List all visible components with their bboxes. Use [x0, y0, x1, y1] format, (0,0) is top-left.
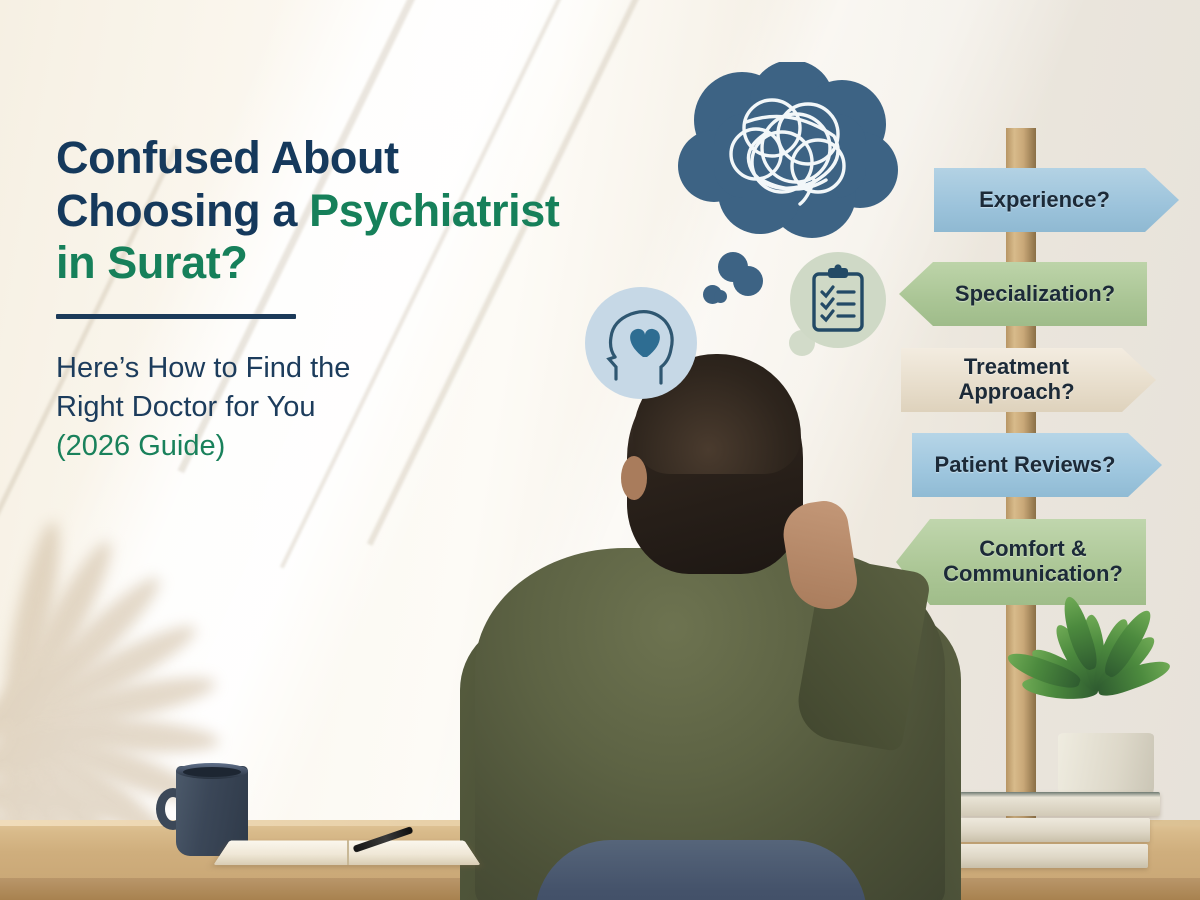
subheading-line-1: Here’s How to Find the: [56, 352, 350, 384]
headline-line-1: Confused About: [56, 132, 399, 183]
subheading: Here’s How to Find the Right Doctor for …: [56, 349, 676, 466]
signpost-label: Experience?: [934, 188, 1179, 213]
signpost-sign-specialization[interactable]: Specialization?: [899, 262, 1147, 326]
thought-bubble-dot: [714, 290, 727, 303]
hero-banner: Experience? Specialization? Treatment Ap…: [0, 0, 1200, 900]
book-item: [960, 792, 1160, 816]
title-divider: [56, 314, 296, 319]
thought-bubble-cloud: [672, 62, 902, 247]
subheading-line-3: (2026 Guide): [56, 427, 676, 466]
page-title: Confused About Choosing a Psychiatrist i…: [56, 132, 676, 290]
checklist-icon-circle: [790, 252, 886, 348]
office-chair-back: [535, 840, 867, 900]
signpost-label: Specialization?: [899, 282, 1147, 307]
subheading-line-2: Right Doctor for You: [56, 391, 316, 423]
clipboard-checklist-icon: [790, 252, 886, 348]
headline-line-3: in Surat?: [56, 237, 247, 288]
book-item: [950, 818, 1150, 842]
headline-line-2b: Psychiatrist: [309, 185, 559, 236]
open-notebook: [213, 840, 480, 865]
book-item: [940, 844, 1148, 868]
potted-plant-leaves: [1038, 620, 1198, 750]
headline-line-2a: Choosing a: [56, 185, 309, 236]
signpost-sign-experience[interactable]: Experience?: [934, 168, 1179, 232]
mug-interior: [183, 767, 241, 777]
book-stack: [940, 792, 1148, 870]
thought-bubble-dot: [733, 266, 763, 296]
headline-block: Confused About Choosing a Psychiatrist i…: [56, 132, 676, 466]
